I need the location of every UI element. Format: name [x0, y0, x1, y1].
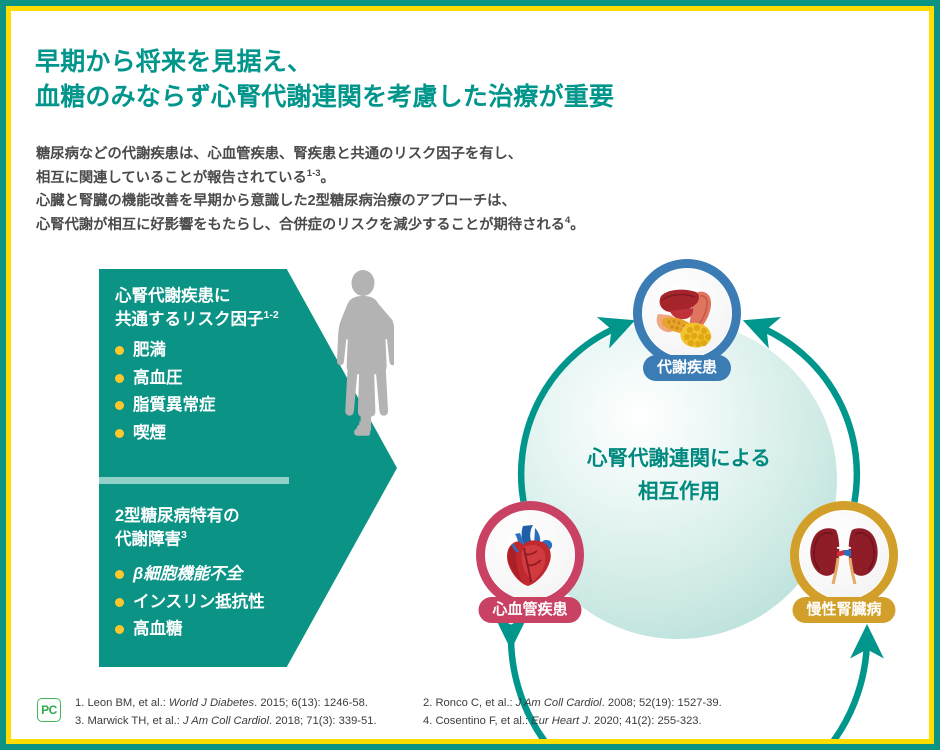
reference-item: 2. Ronco C, et al.: J Am Coll Cardiol. 2… [423, 696, 722, 711]
reference-item: 4. Cosentino F, et al.: Eur Heart J. 202… [423, 714, 722, 729]
metabolic-disorder-list: β細胞機能不全 インスリン抵抗性 高血糖 [115, 566, 265, 638]
node-ring: 慢性腎臓病 [790, 501, 898, 609]
panel-title-line-2: 代謝障害3 [115, 528, 265, 552]
kidneys-icon [806, 520, 882, 590]
panel-title-line-2-text: 代謝障害 [115, 531, 181, 549]
panel-title-line-1: 2型糖尿病特有の [115, 505, 265, 528]
slide-canvas: 早期から将来を見据え、 血糖のみならず心腎代謝連関を考慮した治療が重要 糖尿病な… [11, 11, 929, 739]
cycle-node-renal[interactable]: 慢性腎臓病 [790, 501, 898, 609]
list-item: 喫煙 [115, 425, 279, 442]
reference-journal: World J Diabetes [169, 697, 254, 709]
panel-title-line-1: 心腎代謝疾患に [115, 285, 279, 308]
bullet-dot-icon [115, 570, 124, 579]
cycle-center-line-1: 心腎代謝連関による [541, 442, 817, 475]
lead-line-1: 糖尿病などの代謝疾患は、心血管疾患、腎疾患と共通のリスク因子を有し、 [36, 143, 585, 166]
reference-authors: Marwick TH, et al.: [87, 715, 179, 727]
lead-line-2-text: 相互に関連していることが報告されている [36, 170, 307, 186]
node-icon-area [643, 269, 731, 357]
panel-title-citation: 1-2 [264, 309, 279, 321]
human-body-silhouette-icon [332, 270, 394, 455]
panel-t2dm-metabolic-disorders: 2型糖尿病特有の 代謝障害3 β細胞機能不全 インスリン抵抗性 高血糖 [115, 505, 265, 649]
list-item: 肥満 [115, 342, 279, 359]
cycle-node-metabolic[interactable]: 代謝疾患 [633, 259, 741, 367]
reference-number: 3. [75, 715, 84, 727]
bullet-dot-icon [115, 401, 124, 410]
list-item: 高血糖 [115, 621, 265, 638]
list-item-label: 喫煙 [133, 425, 166, 442]
panel-title: 2型糖尿病特有の 代謝障害3 [115, 505, 265, 552]
list-item-label: 高血糖 [133, 621, 183, 638]
page-title: 早期から将来を見据え、 血糖のみならず心腎代謝連関を考慮した治療が重要 [35, 45, 614, 114]
lead-line-2-tail: 。 [321, 170, 335, 186]
list-item-label: 肥満 [133, 342, 166, 359]
list-item-label: β細胞機能不全 [133, 566, 242, 583]
reference-details: . 2015; 6(13): 1246-58. [254, 697, 368, 709]
cycle-center-label: 心腎代謝連関による 相互作用 [541, 442, 817, 508]
node-label: 慢性腎臓病 [792, 597, 895, 624]
node-ring: 代謝疾患 [633, 259, 741, 367]
list-item: 脂質異常症 [115, 397, 279, 414]
list-item: 高血圧 [115, 370, 279, 387]
bullet-dot-icon [115, 429, 124, 438]
lead-paragraph: 糖尿病などの代謝疾患は、心血管疾患、腎疾患と共通のリスク因子を有し、 相互に関連… [36, 143, 585, 237]
panel-divider [99, 477, 289, 484]
risk-factor-list: 肥満 高血圧 脂質異常症 喫煙 [115, 342, 279, 441]
heart-icon [493, 518, 567, 592]
bullet-dot-icon [115, 374, 124, 383]
slide-frame-inner: 早期から将来を見据え、 血糖のみならず心腎代謝連関を考慮した治療が重要 糖尿病な… [6, 6, 934, 744]
panel-title-line-2-text: 共通するリスク因子 [115, 311, 264, 329]
list-item: β細胞機能不全 [115, 566, 265, 583]
node-ring: 心血管疾患 [476, 501, 584, 609]
reference-number: 2. [423, 697, 432, 709]
reference-authors: Leon BM, et al.: [87, 697, 165, 709]
panel-common-risk-factors: 心腎代謝疾患に 共通するリスク因子1-2 肥満 高血圧 脂質異常症 喫煙 [115, 285, 279, 452]
node-label: 代謝疾患 [643, 355, 731, 382]
panel-title: 心腎代謝疾患に 共通するリスク因子1-2 [115, 285, 279, 332]
reference-details: . 2020; 41(2): 255-323. [588, 715, 702, 727]
reference-number: 1. [75, 697, 84, 709]
reference-details: . 2018; 71(3): 339-51. [269, 715, 377, 727]
page-title-line-2: 血糖のみならず心腎代謝連関を考慮した治療が重要 [35, 80, 614, 115]
cycle-node-cardiovascular[interactable]: 心血管疾患 [476, 501, 584, 609]
bullet-dot-icon [115, 346, 124, 355]
lead-line-4-tail: 。 [570, 217, 584, 233]
reference-authors: Ronco C, et al.: [435, 697, 512, 709]
list-item-label: インスリン抵抗性 [133, 594, 265, 611]
reference-details: . 2008; 52(19): 1527-39. [602, 697, 722, 709]
cardiorenal-metabolic-cycle-diagram: 心腎代謝連関による 相互作用 [463, 259, 915, 689]
reference-journal: J Am Coll Cardiol [516, 697, 602, 709]
lead-line-4: 心腎代謝が相互に好影響をもたらし、合併症のリスクを減少することが期待される4。 [36, 213, 585, 237]
reference-list: 1. Leon BM, et al.: World J Diabetes. 20… [75, 696, 722, 729]
list-item-label: 高血圧 [133, 370, 183, 387]
panel-title-line-2: 共通するリスク因子1-2 [115, 308, 279, 332]
panel-title-citation: 3 [181, 529, 187, 541]
bullet-dot-icon [115, 625, 124, 634]
reference-item: 3. Marwick TH, et al.: J Am Coll Cardiol… [75, 714, 405, 729]
node-label: 心血管疾患 [478, 597, 581, 624]
node-icon-area [486, 511, 574, 599]
pc-logo: PC [37, 698, 61, 722]
node-icon-area [800, 511, 888, 599]
list-item-label: 脂質異常症 [133, 397, 216, 414]
lead-line-2-citation: 1-3 [307, 168, 321, 179]
bullet-dot-icon [115, 598, 124, 607]
lead-line-2: 相互に関連していることが報告されている1-3。 [36, 166, 585, 190]
reference-authors: Cosentino F, et al.: [435, 715, 528, 727]
lead-line-3: 心臓と腎臓の機能改善を早期から意識した2型糖尿病治療のアプローチは、 [36, 190, 585, 213]
footer: PC 1. Leon BM, et al.: World J Diabetes.… [11, 696, 929, 729]
reference-journal: Eur Heart J [531, 715, 588, 727]
list-item: インスリン抵抗性 [115, 594, 265, 611]
reference-item: 1. Leon BM, et al.: World J Diabetes. 20… [75, 696, 405, 711]
lead-line-4-text: 心腎代謝が相互に好影響をもたらし、合併症のリスクを減少することが期待される [36, 217, 565, 233]
slide-frame-outer: 早期から将来を見据え、 血糖のみならず心腎代謝連関を考慮した治療が重要 糖尿病な… [0, 0, 940, 750]
reference-journal: J Am Coll Cardiol [183, 715, 269, 727]
reference-number: 4. [423, 715, 432, 727]
page-title-line-1: 早期から将来を見据え、 [35, 45, 614, 80]
liver-pancreas-muscle-fat-icon [648, 274, 726, 352]
